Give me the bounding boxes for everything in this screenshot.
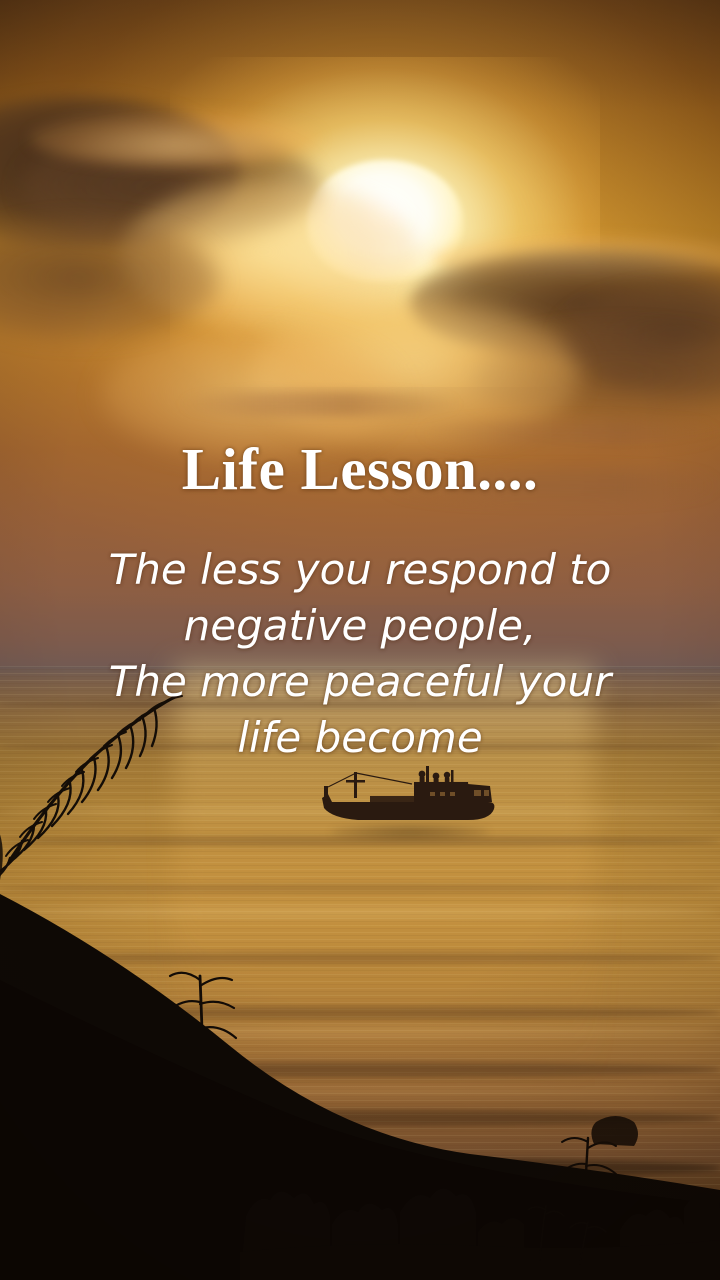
quote-line: The more peaceful your xyxy=(60,654,660,710)
quote-line: life become xyxy=(60,710,660,766)
quote-body: The less you respond to negative people,… xyxy=(60,542,660,766)
quote-line: The less you respond to xyxy=(60,542,660,598)
quote-poster: Life Lesson.... The less you respond to … xyxy=(0,0,720,1280)
quote-text-layer: Life Lesson.... The less you respond to … xyxy=(0,0,720,1280)
quote-line: negative people, xyxy=(60,598,660,654)
quote-title: Life Lesson.... xyxy=(0,440,720,499)
